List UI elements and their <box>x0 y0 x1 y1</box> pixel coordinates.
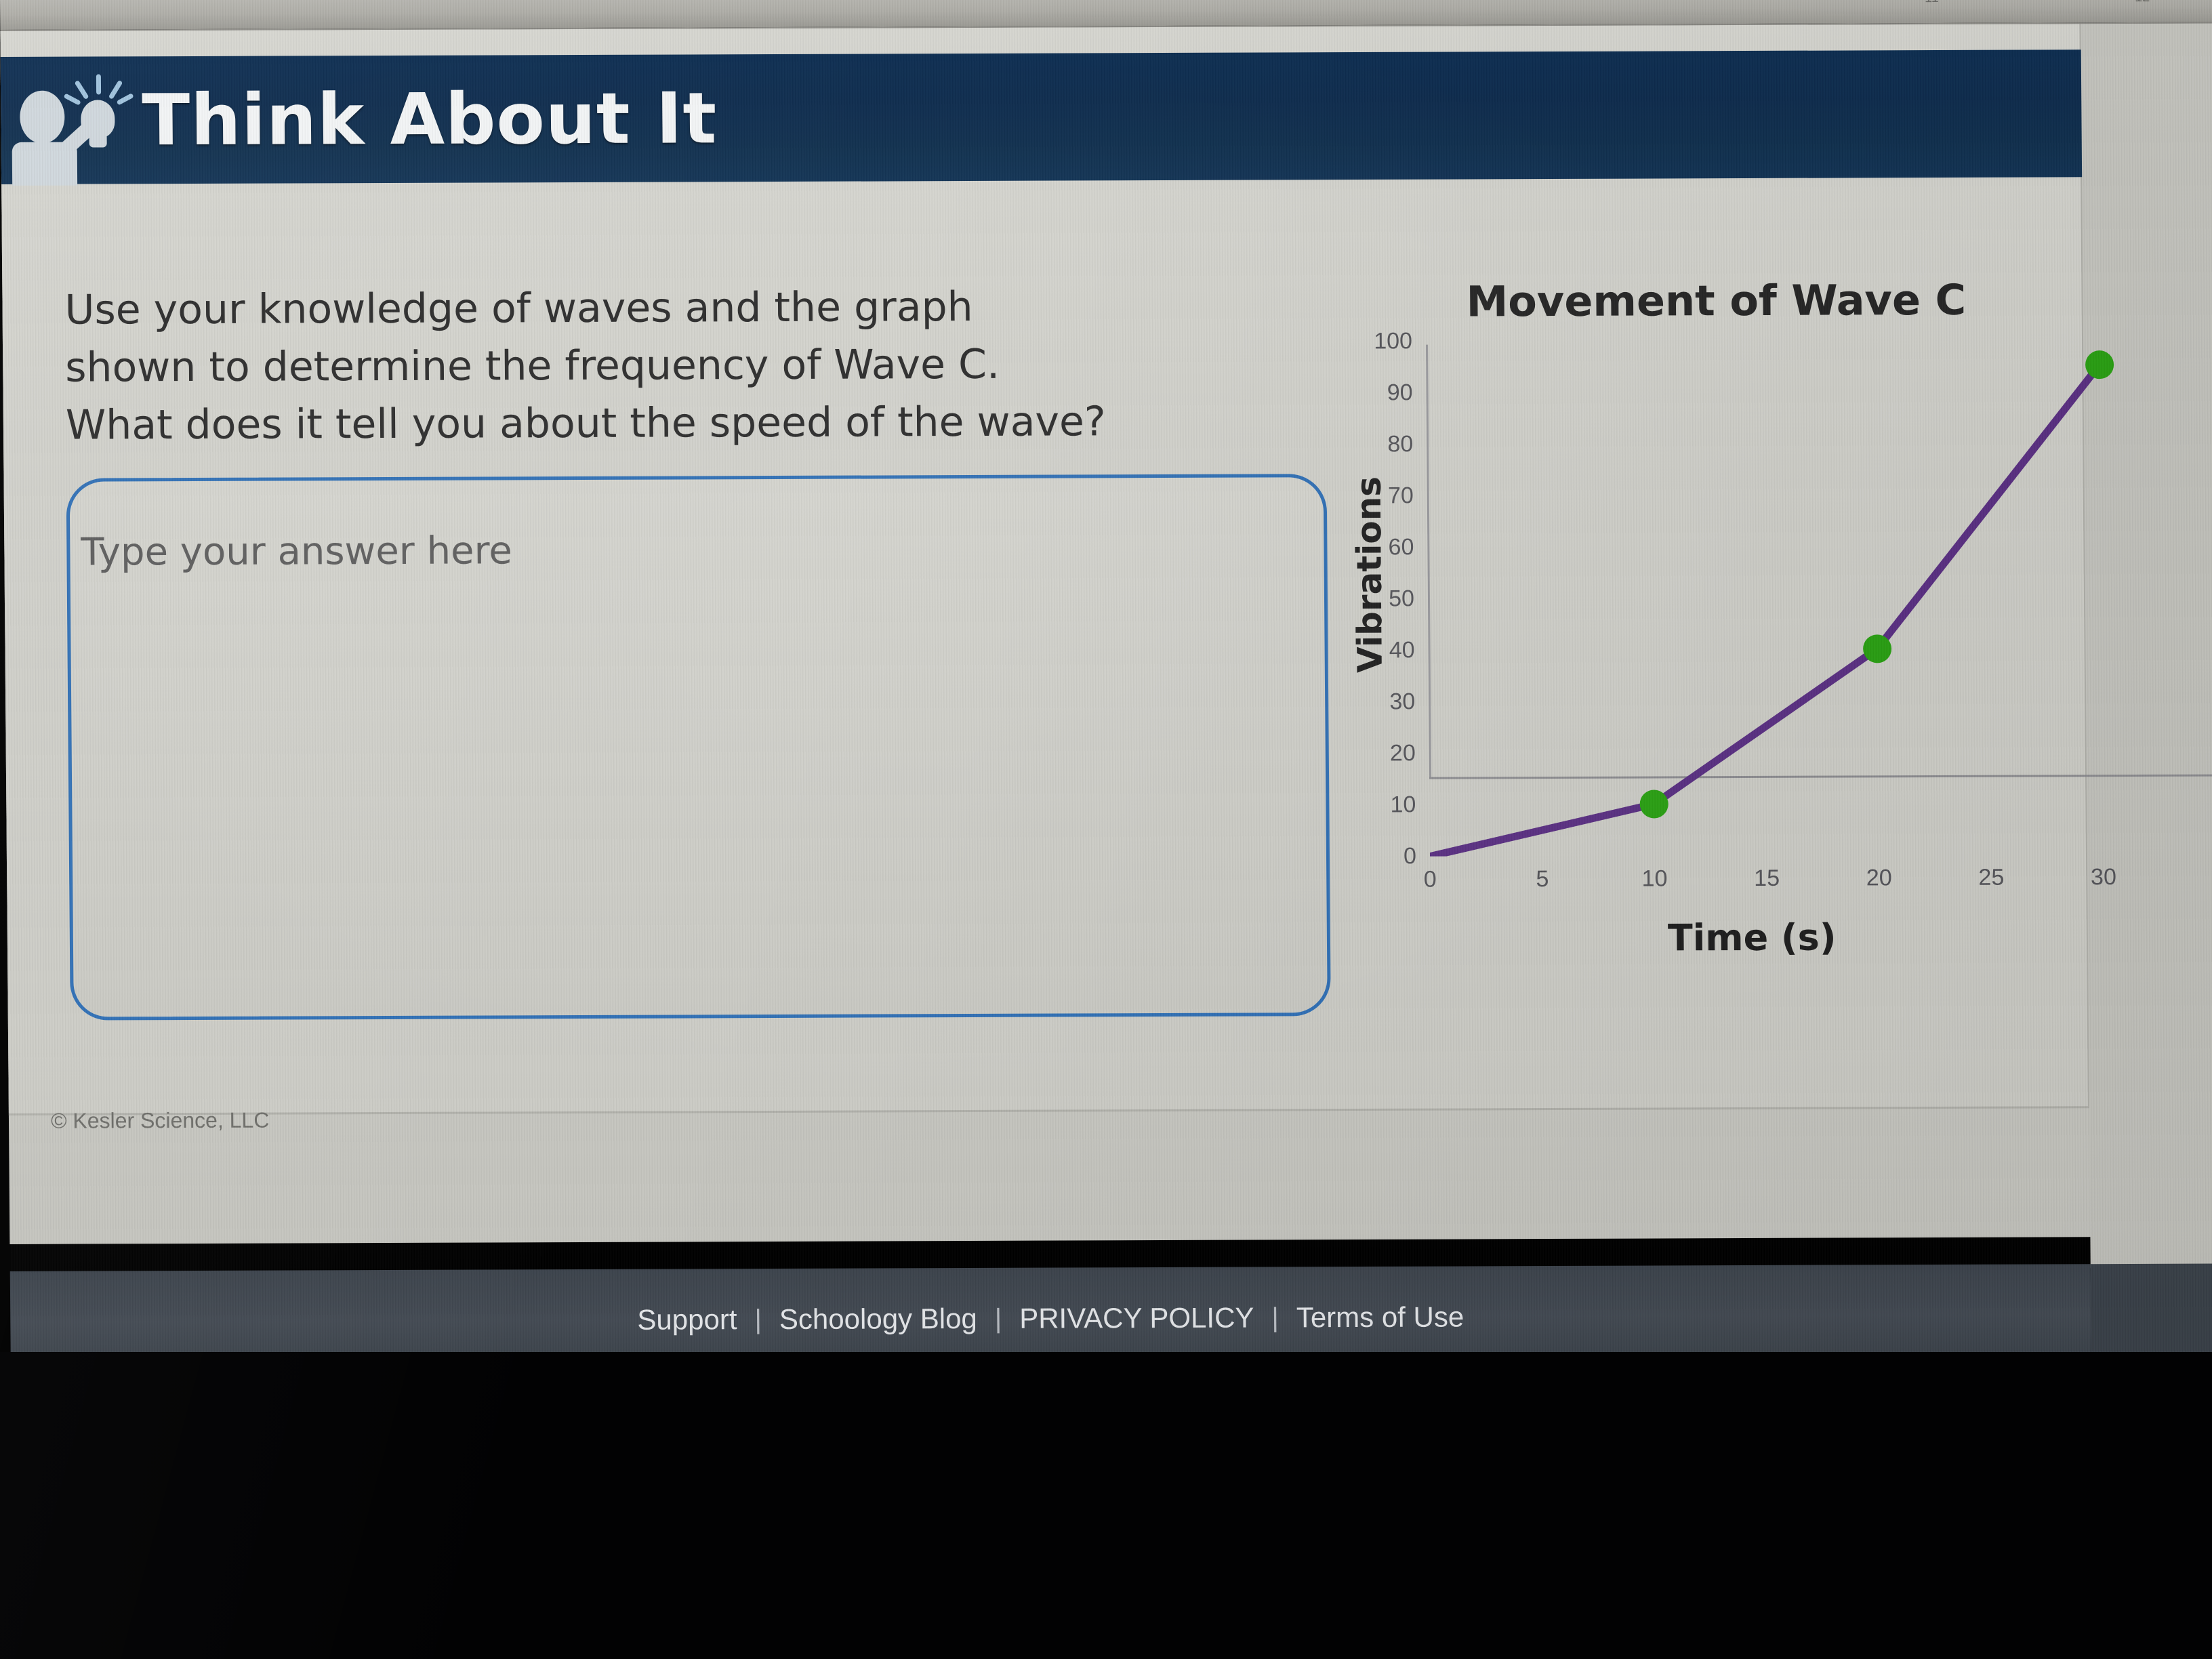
chart-y-tick-30: 30 <box>1313 689 1415 716</box>
page-content: Think About It Use your knowledge of wav… <box>0 24 2212 1244</box>
footer-right-pad <box>2091 1264 2212 1366</box>
chart-x-tick-10: 10 <box>1617 865 1692 892</box>
chart-y-tick-70: 70 <box>1312 483 1414 510</box>
toolbar-tick-12: 12 <box>2135 0 2150 5</box>
activity-card: Think About It Use your knowledge of wav… <box>0 24 2089 1115</box>
chart-data-point <box>1640 790 1668 818</box>
chart-data-point <box>1863 634 1891 663</box>
chart-y-tick-80: 80 <box>1311 431 1413 458</box>
chart-plot-area <box>1426 339 2148 857</box>
monitor-bezel <box>0 1352 2212 1659</box>
footer-separator-2: | <box>995 1303 1002 1334</box>
footer-separator-3: | <box>1271 1303 1279 1333</box>
chart-y-tick-50: 50 <box>1313 586 1414 613</box>
question-prompt: Use your knowledge of waves and the grap… <box>64 277 1299 455</box>
chart-series-svg <box>1426 339 2148 857</box>
chart-x-ticks: 051015202530 <box>1310 261 2150 264</box>
chart-x-axis-label: Time (s) <box>1668 916 1837 960</box>
footer-separator-1: | <box>754 1305 762 1335</box>
chart-y-ticks: 0102030405060708090100 <box>1310 261 2150 264</box>
chart-title: Movement of Wave C <box>1466 275 1966 327</box>
answer-placeholder: Type your answer here <box>81 529 512 574</box>
chart-x-tick-20: 20 <box>1842 865 1917 891</box>
footer-link-support[interactable]: Support <box>619 1303 754 1336</box>
page-title: Think About It <box>142 83 718 155</box>
person-with-lightbulb-icon <box>7 66 137 175</box>
answer-input[interactable]: Type your answer here <box>66 474 1331 1020</box>
footer-link-privacy-policy[interactable]: PRIVACY POLICY <box>1002 1301 1272 1334</box>
photographed-screen: 11 12 <box>0 0 2212 1659</box>
chart-y-tick-60: 60 <box>1312 534 1414 561</box>
movement-of-wave-c-chart: Movement of Wave C Vibrations Time (s) 0… <box>1310 261 2156 1009</box>
footer-link-schoology-blog[interactable]: Schoology Blog <box>762 1303 995 1336</box>
question-line-3: What does it tell you about the speed of… <box>66 393 1300 455</box>
chart-y-tick-40: 40 <box>1313 637 1414 664</box>
chart-y-tick-20: 20 <box>1314 740 1416 767</box>
toolbar-tick-11: 11 <box>1925 0 1939 6</box>
footer-link-terms-of-use[interactable]: Terms of Use <box>1279 1300 1482 1334</box>
chart-y-tick-100: 100 <box>1311 328 1412 355</box>
chart-x-tick-25: 25 <box>1954 865 2028 891</box>
chart-y-tick-10: 10 <box>1314 792 1416 819</box>
chart-data-point <box>2085 350 2114 379</box>
chart-x-tick-30: 30 <box>2066 864 2141 890</box>
question-line-1: Use your knowledge of waves and the grap… <box>64 277 1298 340</box>
monitor-surface: 11 12 <box>0 0 2212 1362</box>
chart-x-tick-15: 15 <box>1729 865 1804 892</box>
chart-x-tick-5: 5 <box>1505 866 1580 893</box>
chart-y-tick-90: 90 <box>1311 380 1412 407</box>
copyright-notice: © Kesler Science, LLC <box>51 1108 270 1134</box>
chart-x-tick-0: 0 <box>1393 866 1467 893</box>
activity-header: Think About It <box>1 49 2082 184</box>
question-line-2: shown to determine the frequency of Wave… <box>65 335 1299 397</box>
